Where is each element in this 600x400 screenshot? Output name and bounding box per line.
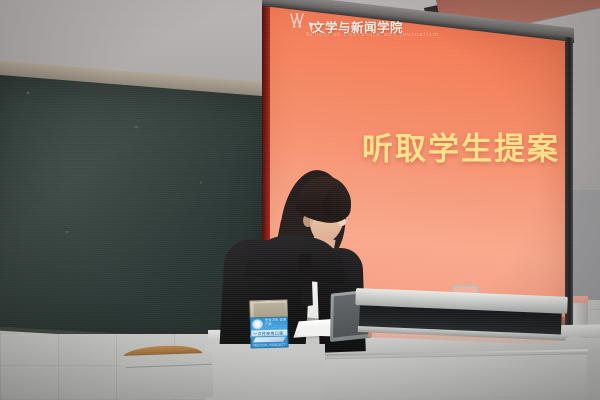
product-box: 安全卫生 优质产品 一次性使用口罩 MEDICAL PRODUCT bbox=[249, 300, 288, 349]
box-product-illustration bbox=[253, 337, 286, 343]
box-interior bbox=[253, 303, 285, 318]
podium-left-block bbox=[205, 344, 325, 400]
photo-scene: \/\/ 文学与新闻学院 School of Literature and Jo… bbox=[0, 0, 600, 400]
box-label-top-line: 安全卫生 优质产品 bbox=[265, 319, 287, 327]
podium-lower-left bbox=[120, 353, 213, 400]
presenter-lapel bbox=[299, 253, 313, 307]
